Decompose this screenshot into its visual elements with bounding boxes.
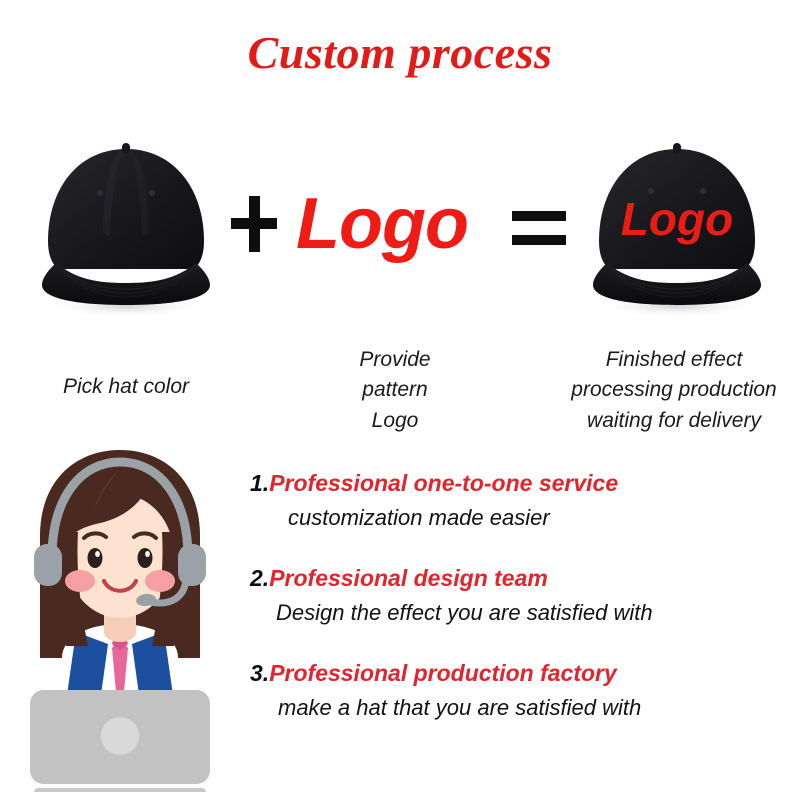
caption-line: Logo [312, 406, 478, 436]
logo-word: Logo [296, 183, 468, 265]
eye-left-glint [95, 551, 100, 557]
feature-headline: 3.Professional production factory [250, 660, 790, 688]
caption-pick-hat-color: Pick hat color [16, 372, 236, 402]
laptop-base [34, 788, 206, 792]
caption-line: Pick hat color [16, 372, 236, 402]
caption-line: processing production [548, 375, 800, 405]
feature-headline-text: Professional production factory [269, 660, 617, 686]
hat-image-with-logo: Logo [574, 133, 780, 323]
caption-provide-logo: Provide pattern Logo [312, 345, 478, 436]
feature-item: 3.Professional production factory make a… [250, 660, 790, 721]
feature-headline: 1.Professional one-to-one service [250, 470, 790, 498]
hat-image-plain [26, 133, 226, 323]
eye-right-glint [145, 551, 150, 557]
plus-icon [231, 196, 277, 252]
equals-icon [512, 205, 566, 249]
feature-headline: 2.Professional design team [250, 565, 790, 593]
feature-list: 1.Professional one-to-one service custom… [250, 470, 790, 721]
eye-right [138, 548, 153, 568]
feature-item: 2.Professional design team Design the ef… [250, 565, 790, 626]
feature-number: 1. [250, 470, 269, 496]
caption-line: Finished effect [548, 345, 800, 375]
feature-subline: customization made easier [250, 504, 790, 532]
caption-finished-effect: Finished effect processing production wa… [548, 345, 800, 436]
laptop-logo [101, 717, 139, 755]
cheek-right [145, 570, 175, 592]
feature-headline-text: Professional design team [269, 565, 548, 591]
feature-subline: make a hat that you are satisfied with [250, 694, 790, 722]
eye-left [88, 548, 103, 568]
feature-headline-text: Professional one-to-one service [269, 470, 618, 496]
caption-line: pattern [312, 375, 478, 405]
page-title: Custom process [0, 26, 800, 79]
cheek-left [65, 570, 95, 592]
feature-number: 3. [250, 660, 269, 686]
feature-item: 1.Professional one-to-one service custom… [250, 470, 790, 531]
caption-line: Provide [312, 345, 478, 375]
feature-subline: Design the effect you are satisfied with [250, 599, 790, 627]
baseball-cap-icon [26, 133, 226, 323]
earcup-left [34, 544, 62, 586]
earcup-right [178, 544, 206, 586]
svg-text:Logo: Logo [621, 193, 733, 245]
customer-service-agent-illustration [4, 440, 236, 792]
caption-line: waiting for delivery [548, 406, 800, 436]
baseball-cap-logo-icon: Logo [574, 133, 780, 323]
feature-number: 2. [250, 565, 269, 591]
promo-banner: Custom process [0, 0, 800, 800]
agent-icon [4, 440, 236, 792]
